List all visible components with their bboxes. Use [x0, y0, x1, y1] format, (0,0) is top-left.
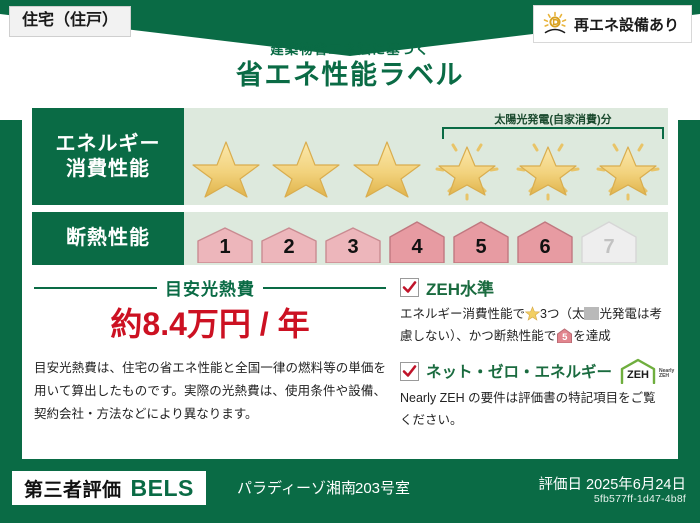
energy-star-plain — [270, 135, 342, 201]
insulation-level-scale: 1 2 3 — [194, 215, 662, 263]
inline-star-icon — [525, 306, 540, 321]
energy-star-solar — [431, 135, 503, 201]
insulation-level-5: 5 — [450, 219, 512, 263]
room-number: 203号室 — [355, 477, 410, 498]
energy-star-plain — [190, 135, 262, 201]
energy-label-line2: 消費性能 — [66, 157, 150, 181]
insulation-level-1-number: 1 — [194, 236, 256, 259]
claim-net-zero-energy-body: Nearly ZEH の要件は評価書の特記項目をご覧ください。 — [400, 388, 668, 431]
heading-rule-right — [263, 287, 386, 289]
insulation-performance-row: 断熱性能 1 2 — [32, 212, 668, 265]
insulation-level-7-number: 7 — [578, 236, 640, 259]
zeh-body-part1: エネルギー消費性能で — [400, 307, 525, 321]
heading-rule-left — [34, 287, 157, 289]
insulation-level-2: 2 — [258, 225, 320, 263]
zeh-logo-sub-line2: ZEH — [659, 373, 669, 379]
inline-house-level-icon: 5 — [556, 328, 573, 343]
claim-zeh-standard-header: ZEH水準 — [400, 275, 668, 300]
insulation-level-3-number: 3 — [322, 236, 384, 259]
building-name: パラディーゾ湘南 — [237, 477, 356, 498]
document-id: 5fb577ff-1d47-4b8f — [594, 493, 686, 505]
solar-bracket-caption: 太陽光発電(自家消費)分 — [490, 114, 615, 126]
lower-panel: 目安光熱費 約8.4万円 / 年 目安光熱費は、住宅の省エネ性能と全国一律の燃料… — [22, 271, 678, 459]
check-icon — [402, 364, 417, 379]
evaluation-date: 評価日 2025年6月24日 — [539, 473, 686, 494]
bels-label-jp: 第三者評価 — [24, 475, 122, 502]
label-footer: 第三者評価 BELS パラディーゾ湘南 203号室 評価日 2025年6月24日… — [0, 463, 700, 523]
claim-zeh-standard: ZEH水準 エネルギー消費性能で3つ（太光発電は考慮しない）、かつ断熱性能で5を… — [400, 275, 668, 347]
bels-label-en: BELS — [131, 475, 194, 502]
claim-zeh-standard-body: エネルギー消費性能で3つ（太光発電は考慮しない）、かつ断熱性能で5を達成 — [400, 304, 668, 347]
insulation-level-4-number: 4 — [386, 236, 448, 259]
insulation-level-6: 6 — [514, 219, 576, 263]
insulation-level-3: 3 — [322, 225, 384, 263]
energy-performance-row: エネルギー 消費性能 太陽光発電(自家消費)分 — [32, 108, 668, 205]
insulation-rating-area: 1 2 3 — [184, 212, 668, 265]
redacted-character — [584, 307, 599, 320]
energy-performance-label: エネルギー 消費性能 — [32, 108, 184, 205]
label-body-card: エネルギー 消費性能 太陽光発電(自家消費)分 — [22, 99, 678, 459]
solar-bracket-caption-wrap: 太陽光発電(自家消費)分 — [442, 110, 664, 128]
check-icon — [402, 280, 417, 295]
energy-rating-area: 太陽光発電(自家消費)分 — [184, 108, 668, 205]
utility-cost-note: 目安光熱費は、住宅の省エネ性能と全国一律の燃料等の単価を用いて算出したものです。… — [34, 357, 386, 425]
zeh-logo-sub: Nearly ZEH — [659, 369, 674, 385]
energy-performance-label: 住宅（住戸） 再エネ設備あり 建築物省エネ法に基づく — [0, 0, 700, 523]
claim-net-zero-energy: ネット・ゼロ・エネルギー ZEH Nearly ZEH — [400, 358, 668, 431]
insulation-level-6-number: 6 — [514, 236, 576, 259]
utility-cost-panel: 目安光熱費 約8.4万円 / 年 目安光熱費は、住宅の省エネ性能と全国一律の燃料… — [34, 271, 386, 425]
zeh-house-logo: ZEH Nearly ZEH — [619, 358, 674, 384]
evaluation-date-label: 評価日 — [539, 477, 583, 493]
sun-renewable-icon — [542, 11, 568, 37]
zeh-standard-checkbox[interactable] — [400, 278, 419, 297]
zeh-body-star-count: 3つ — [540, 307, 559, 321]
energy-star-solar — [592, 135, 664, 201]
utility-cost-heading: 目安光熱費 — [34, 275, 386, 300]
renewable-equipment-badge: 再エネ設備あり — [533, 5, 692, 43]
zeh-body-part4: を達成 — [573, 329, 611, 343]
energy-star-plain — [351, 135, 423, 201]
insulation-level-5-number: 5 — [450, 236, 512, 259]
bels-certification-box: 第三者評価 BELS — [12, 471, 206, 505]
energy-star-solar — [512, 135, 584, 201]
evaluation-date-value: 2025年6月24日 — [586, 477, 686, 493]
energy-star-rating — [190, 134, 664, 201]
inline-house-level-number: 5 — [556, 333, 573, 343]
insulation-level-4: 4 — [386, 219, 448, 263]
claim-net-zero-energy-header: ネット・ゼロ・エネルギー ZEH Nearly ZEH — [400, 358, 668, 384]
utility-cost-heading-text: 目安光熱費 — [165, 275, 255, 300]
title-subtitle: 建築物省エネ法に基づく — [0, 42, 700, 58]
net-zero-energy-checkbox[interactable] — [400, 362, 419, 381]
label-title-block: 建築物省エネ法に基づく 省エネ性能ラベル — [0, 42, 700, 93]
building-type-tag: 住宅（住戸） — [9, 6, 131, 37]
insulation-performance-label: 断熱性能 — [32, 212, 184, 265]
svg-text:ZEH: ZEH — [627, 369, 649, 381]
claim-net-zero-energy-title: ネット・ゼロ・エネルギー — [426, 360, 612, 382]
insulation-level-7: 7 — [578, 219, 640, 263]
insulation-label-text: 断熱性能 — [66, 226, 150, 250]
insulation-level-1: 1 — [194, 225, 256, 263]
zeh-body-part2: （太 — [559, 307, 584, 321]
claims-panel: ZEH水準 エネルギー消費性能で3つ（太光発電は考慮しない）、かつ断熱性能で5を… — [400, 275, 668, 442]
renewable-badge-label: 再エネ設備あり — [574, 14, 679, 35]
utility-cost-value: 約8.4万円 / 年 — [34, 307, 386, 342]
energy-label-line1: エネルギー — [56, 132, 161, 156]
insulation-level-2-number: 2 — [258, 236, 320, 259]
claim-zeh-standard-title: ZEH水準 — [426, 275, 494, 300]
page-title: 省エネ性能ラベル — [0, 59, 700, 93]
